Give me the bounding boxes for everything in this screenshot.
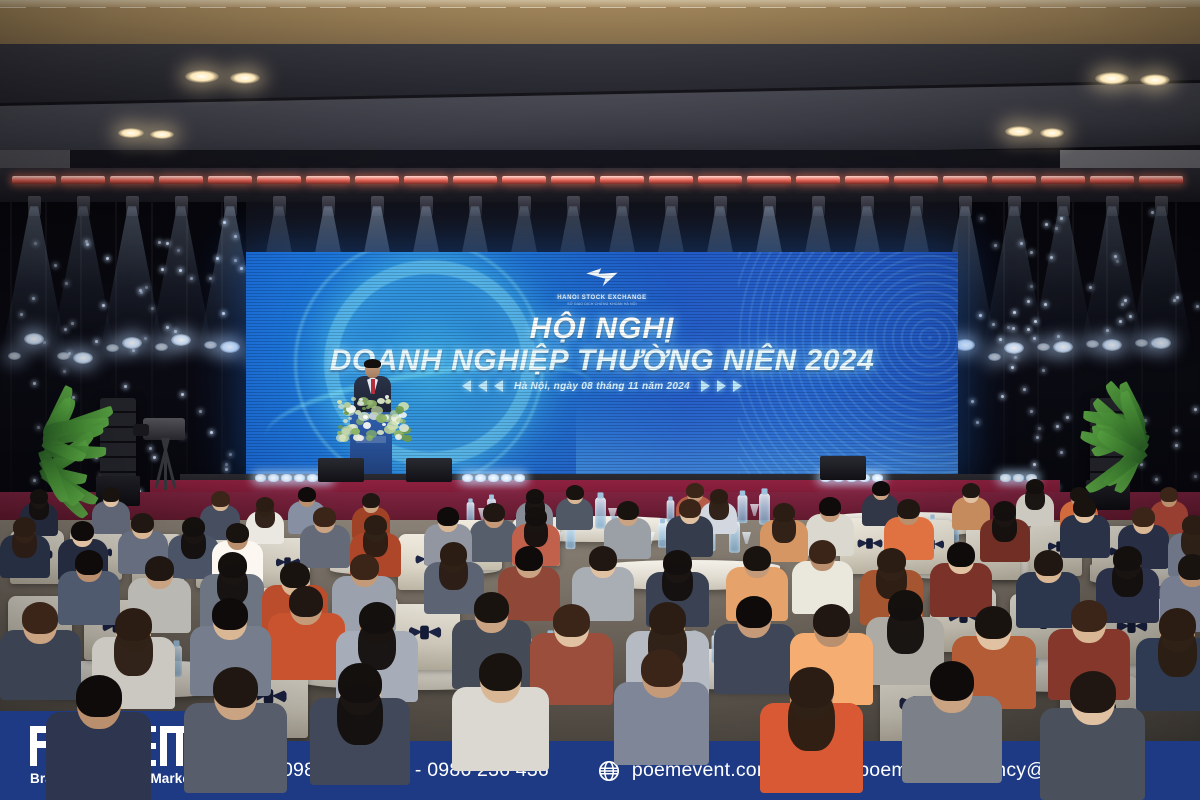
curtain-star [1030, 410, 1033, 413]
curtain-star [1155, 478, 1158, 481]
audience-long-hair [524, 518, 548, 547]
stage-monitor-right [820, 456, 866, 480]
audience-member [614, 646, 709, 775]
water-bottle [738, 495, 748, 523]
audience-hair [515, 546, 543, 571]
beam-hotspot [204, 341, 217, 349]
curtain-star [980, 217, 983, 220]
curtain-star [1151, 211, 1154, 214]
audience-member [184, 664, 287, 800]
audience-long-hair [662, 563, 693, 601]
flower-petal [351, 397, 356, 401]
audience-hair [872, 481, 890, 496]
camera-body [143, 418, 185, 440]
audience-hair [362, 493, 380, 508]
hnx-org-name: HANOI STOCK EXCHANGE [246, 295, 958, 301]
audience-hair [589, 546, 617, 571]
chair-bow-knot [421, 626, 430, 640]
audience-hair [736, 596, 772, 628]
chevron-left-icon [478, 380, 487, 392]
par-light-bar [1041, 176, 1085, 184]
stage-footlight [488, 474, 499, 482]
stage-footlight [475, 474, 486, 482]
audience-hair [819, 497, 841, 516]
audience-member [452, 650, 549, 781]
audience-long-hair [887, 607, 924, 654]
flower-petal [366, 430, 377, 438]
audience-hair [437, 507, 459, 526]
chevron-right-icon [701, 380, 710, 392]
par-light-bar [404, 176, 448, 184]
stage-footlight [307, 474, 318, 482]
hnx-org-subtitle: SỞ GIAO DỊCH CHỨNG KHOÁN HÀ NỘI [246, 302, 958, 306]
flower-petal [395, 406, 404, 414]
curtain-star [225, 463, 228, 466]
par-light-bar [845, 176, 889, 184]
curtain-star [1045, 223, 1048, 226]
audience-hair [211, 491, 230, 507]
beam-hotspot [1135, 339, 1148, 347]
audience-hair [1160, 487, 1178, 502]
ceiling-downlight [1095, 72, 1129, 85]
stage-monitor-center [406, 458, 452, 482]
beam-hotspot [122, 337, 142, 349]
curtain-star [106, 257, 109, 260]
stage-footlight [268, 474, 279, 482]
audience-long-hair [439, 554, 468, 590]
audience-long-hair [1112, 559, 1143, 597]
flower-petal [343, 419, 348, 423]
audience-hair [1071, 600, 1107, 632]
curtain-star [994, 244, 997, 247]
camera-lens-icon [133, 424, 149, 436]
curtain-star [1023, 388, 1026, 391]
curtain-star [33, 479, 36, 482]
audience-member [556, 484, 593, 534]
audience-hair [350, 554, 379, 580]
curtain-star [210, 431, 213, 434]
curtain-star [1194, 408, 1197, 411]
flower-petal [377, 430, 384, 435]
led-title-line1: HỘI NGHỊ [246, 312, 958, 346]
flower-petal [377, 398, 385, 404]
beam-hotspot [1151, 337, 1171, 349]
par-light-bar [1139, 176, 1183, 184]
beam-hotspot [24, 333, 44, 345]
beam-hotspot [1086, 340, 1099, 348]
curtain-star [1042, 369, 1045, 372]
flower-petal [351, 428, 360, 435]
audience-long-hair [992, 512, 1017, 542]
video-camera-tripod [135, 418, 195, 490]
curtain-star [124, 385, 127, 388]
flower-petal [385, 399, 391, 404]
speaker-hair [364, 359, 381, 368]
audience-hair [289, 586, 323, 617]
audience-hair [962, 483, 980, 498]
beam-hotspot [106, 344, 119, 352]
speaker-tie [371, 379, 375, 394]
curtain-star [199, 410, 202, 413]
beam-hotspot [988, 353, 1001, 361]
stage-footlight [1000, 474, 1011, 482]
ceiling-downlight [118, 128, 144, 138]
audience-long-hair [337, 684, 383, 745]
ceiling-downlight [1005, 126, 1033, 137]
par-light-bar [110, 176, 154, 184]
flower-arrangement [336, 395, 408, 437]
stage-footlight [462, 474, 473, 482]
curtain-star [1014, 356, 1017, 359]
audience-hair [743, 546, 771, 571]
audience-hair [813, 604, 850, 637]
audience-hair [975, 606, 1012, 639]
par-light-bar [159, 176, 203, 184]
stage-footlight [255, 474, 266, 482]
curtain-star [1066, 416, 1069, 419]
led-date-text: Hà Nội, ngày 08 tháng 11 năm 2024 [510, 381, 694, 392]
ceiling-downlight [230, 72, 260, 84]
flower-petal [371, 406, 383, 415]
flower-petal [366, 406, 370, 409]
audience-hair [75, 550, 103, 575]
chevron-left-icon [462, 380, 471, 392]
audience-hair [212, 598, 248, 630]
beam-hotspot [57, 352, 70, 360]
audience-hair [1132, 507, 1155, 527]
par-light-bar [257, 176, 301, 184]
par-light-bar [453, 176, 497, 184]
audience-hair [809, 540, 836, 564]
beam-hotspot [73, 352, 93, 364]
curtain-star [166, 242, 169, 245]
par-light-bar [943, 176, 987, 184]
hnx-logo-block: HANOI STOCK EXCHANGE SỞ GIAO DỊCH CHỨNG … [246, 266, 958, 306]
par-light-bar [698, 176, 742, 184]
flower-petal [363, 422, 371, 429]
beam-hotspot [1037, 343, 1050, 351]
beam-hotspot [1102, 339, 1122, 351]
audience-hair [1034, 550, 1063, 576]
par-light-bar [649, 176, 693, 184]
par-light-bar [992, 176, 1036, 184]
par-light-bar [61, 176, 105, 184]
par-light-bar [551, 176, 595, 184]
audience-long-hair [114, 626, 153, 676]
curtain-star [63, 370, 66, 373]
curtain-star [1011, 366, 1014, 369]
flower-petal [376, 414, 387, 423]
par-light-bar [502, 176, 546, 184]
curtain-star [209, 277, 212, 280]
flower-petal [387, 421, 398, 430]
flower-petal [353, 434, 362, 441]
audience-hair [213, 667, 258, 708]
audience-member [760, 664, 863, 800]
beam-hotspot [1004, 342, 1024, 354]
audience-hair [566, 485, 584, 500]
flower-petal [357, 401, 364, 406]
audience-hair [897, 499, 920, 519]
par-light-bar [12, 176, 56, 184]
curtain-star [976, 421, 979, 424]
ceiling-downlight [1040, 128, 1064, 138]
curtain-star [1060, 451, 1063, 454]
curtain-star [1056, 425, 1059, 428]
par-light-bar [306, 176, 350, 184]
flower-petal [363, 415, 368, 419]
stage-footlight [281, 474, 292, 482]
curtain-star [1196, 305, 1199, 308]
hnx-logo-icon [585, 266, 619, 288]
ceiling-downlight [185, 70, 219, 83]
audience-member [0, 516, 50, 583]
audience-hair [930, 661, 974, 701]
flower-petal [395, 434, 402, 440]
beam-hotspot [955, 339, 975, 351]
conference-photo: HANOI STOCK EXCHANGE SỞ GIAO DỊCH CHỨNG … [0, 0, 1200, 800]
curtain-star [1194, 475, 1197, 478]
audience-hair [483, 503, 505, 522]
audience-hair [102, 487, 120, 502]
audience-member [310, 660, 410, 796]
beam-hotspot [171, 334, 191, 346]
par-light-bar [208, 176, 252, 184]
stage-footlight [514, 474, 525, 482]
flower-petal [403, 435, 412, 442]
curtain-star [971, 400, 974, 403]
audience-member [1040, 668, 1145, 800]
par-light-bar [355, 176, 399, 184]
audience-hair [1070, 671, 1116, 713]
stage-monitor-left [318, 458, 364, 482]
curtain-star [181, 393, 184, 396]
par-light-bar [600, 176, 644, 184]
audience-hair [131, 513, 154, 533]
curtain-star [1030, 251, 1033, 254]
audience-hair [617, 501, 639, 520]
audience-hair [1178, 554, 1200, 580]
chevron-right-icon [733, 380, 742, 392]
audience-hair [641, 649, 683, 687]
flower-petal [348, 417, 352, 420]
beam-hotspot [155, 343, 168, 351]
curtain-star [158, 241, 161, 244]
ceiling-downlight [1140, 74, 1170, 86]
par-light-bar [1090, 176, 1134, 184]
beam-hotspot [220, 341, 240, 353]
beam-hotspot [8, 352, 21, 360]
stage-footlight [501, 474, 512, 482]
audience-hair [553, 604, 590, 637]
chevron-left-icon [494, 380, 503, 392]
chevron-right-icon [717, 380, 726, 392]
curtain-star [161, 268, 164, 271]
audience-long-hair [788, 689, 835, 751]
audience-long-hair [12, 528, 37, 558]
ceiling-downlight [150, 130, 174, 139]
audience-hair [474, 592, 509, 623]
par-light-bar [747, 176, 791, 184]
audience-member [46, 672, 151, 800]
curtain-star [1089, 286, 1092, 289]
audience-hair [22, 602, 58, 634]
audience-hair [313, 507, 336, 527]
audience-hair [1073, 497, 1096, 517]
flower-petal [399, 424, 409, 432]
audience-hair [679, 499, 701, 518]
stage-footlight [294, 474, 305, 482]
curtain-star [33, 382, 36, 385]
curtain-star [1033, 463, 1036, 466]
audience-member [902, 658, 1002, 794]
audience-hair [947, 542, 975, 567]
audience-hair [71, 521, 94, 541]
audience-long-hair [1158, 626, 1197, 677]
curtain-star [37, 426, 40, 429]
audience-hair [226, 523, 249, 543]
ceiling-cove [0, 0, 1200, 46]
audience-hair [145, 556, 174, 581]
curtain-star [225, 468, 228, 471]
par-light-bar [796, 176, 840, 184]
audience-hair [76, 675, 122, 717]
audience-member [1136, 606, 1200, 720]
audience-hair [298, 487, 316, 502]
audience-hair [479, 653, 522, 691]
par-light-bar [894, 176, 938, 184]
ceiling-strip-lights [0, 0, 1200, 8]
beam-hotspot [1053, 341, 1073, 353]
curtain-star [229, 453, 232, 456]
curtain-star [54, 264, 57, 267]
flower-petal [344, 402, 351, 408]
